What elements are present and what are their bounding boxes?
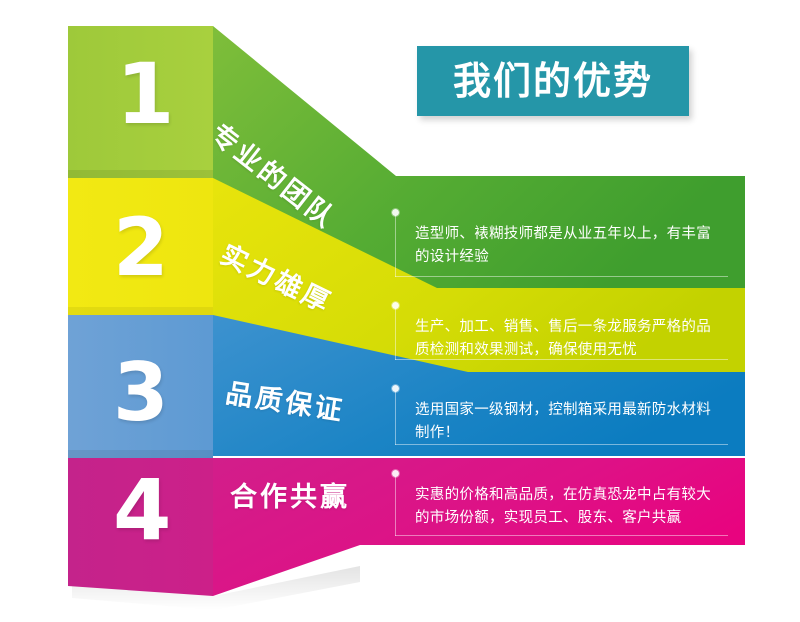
bracket-vertical-line <box>395 476 396 536</box>
bracket-dot-icon <box>392 302 399 309</box>
block-4-number: 4 <box>113 468 171 552</box>
block-4-description-panel: 实惠的价格和高品质，在仿真恐龙中占有较大的市场份额，实现员工、股东、客户共赢 <box>379 460 744 546</box>
block-1-description-panel: 造型师、裱糊技师都是从业五年以上，有丰富的设计经验 <box>379 199 744 287</box>
block-3-description-panel: 选用国家一级钢材，控制箱采用最新防水材料制作！ <box>379 375 744 455</box>
block-1-number: 1 <box>116 52 174 136</box>
block-3-number: 3 <box>113 353 169 433</box>
block-4-label: 合作共赢 <box>230 484 350 511</box>
page-title-text: 我们的优势 <box>453 62 653 100</box>
block-2-description-panel: 生产、加工、销售、售后一条龙服务严格的品质检测和效果测试，确保使用无忧 <box>379 292 744 370</box>
block-3-description: 选用国家一级钢材，控制箱采用最新防水材料制作！ <box>415 399 718 446</box>
bracket-dot-icon <box>392 385 399 392</box>
block-1-description: 造型师、裱糊技师都是从业五年以上，有丰富的设计经验 <box>415 223 718 270</box>
bracket-vertical-line <box>395 308 396 360</box>
page-title: 我们的优势 <box>417 46 689 116</box>
bracket-vertical-line <box>395 215 396 277</box>
bracket-vertical-line <box>395 391 396 445</box>
block-4-description: 实惠的价格和高品质，在仿真恐龙中占有较大的市场份额，实现员工、股东、客户共赢 <box>415 484 718 531</box>
bracket-horizontal-line <box>395 535 728 536</box>
bracket-horizontal-line <box>395 276 728 277</box>
block-2-number: 2 <box>113 208 169 288</box>
bracket-dot-icon <box>392 470 399 477</box>
advantages-infographic: 1 2 3 4 专业的团队 实力雄厚 品质保证 合作共赢 我们的优势 造型师、裱… <box>0 0 800 622</box>
block-2-description: 生产、加工、销售、售后一条龙服务严格的品质检测和效果测试，确保使用无忧 <box>415 316 718 363</box>
bracket-dot-icon <box>392 209 399 216</box>
